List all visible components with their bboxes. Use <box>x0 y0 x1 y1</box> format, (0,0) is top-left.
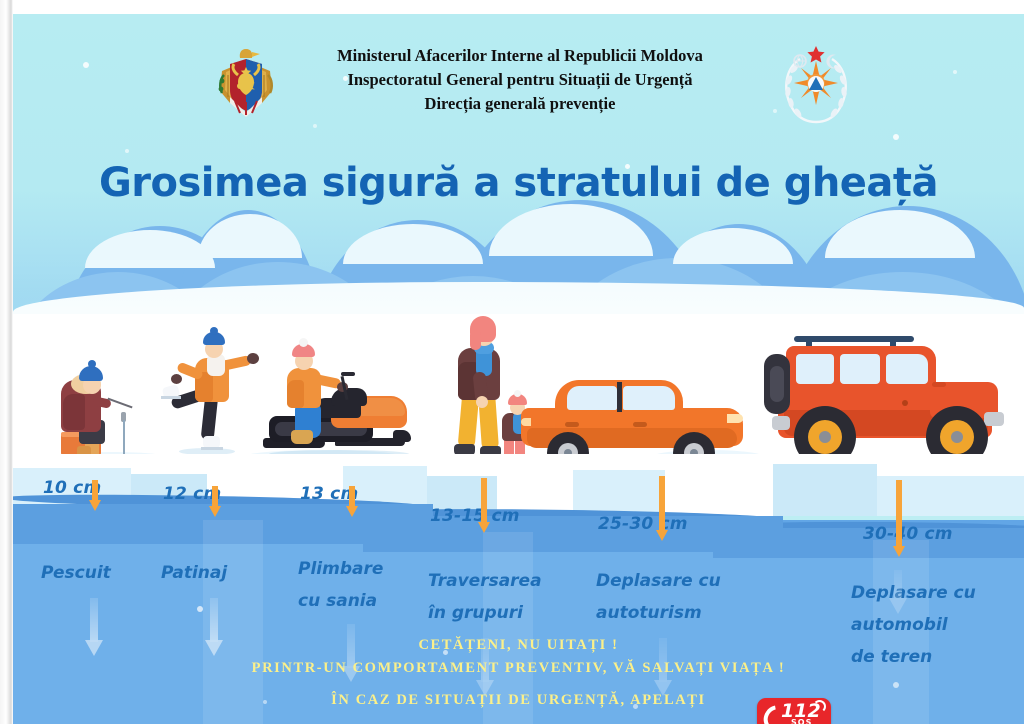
thickness-label-6: 30-40 cm <box>863 524 953 544</box>
thickness-arrow-1 <box>89 480 101 512</box>
thickness-arrow-6 <box>893 480 905 562</box>
activity-label-1: Pescuit <box>41 560 111 586</box>
header-line-1: Ministerul Afacerilor Interne al Republi… <box>282 44 758 68</box>
page-title: Grosimea sigură a stratului de gheață <box>13 160 1024 206</box>
car-window-front <box>567 386 617 410</box>
header-line-2: Inspectoratul General pentru Situații de… <box>282 68 758 92</box>
activity-label-5a: Deplasare cu <box>596 568 721 594</box>
activity-label-3b: cu sania <box>298 588 377 614</box>
suv-roof-rack <box>794 336 914 342</box>
emergency-112-badge[interactable]: 112 SOS <box>757 698 831 724</box>
thickness-label-5: 25-30 cm <box>598 514 688 534</box>
thickness-arrow-5 <box>656 476 668 546</box>
suv-window-2 <box>840 354 880 384</box>
thickness-arrow-2 <box>209 486 221 518</box>
activity-label-5b: autoturism <box>596 600 702 626</box>
signal-wave-icon <box>813 700 826 713</box>
footer-line-3: ÎN CAZ DE SITUAȚII DE URGENȚĂ, APELAȚI <box>13 689 1024 712</box>
thickness-arrow-3 <box>346 486 358 518</box>
suv-window-3 <box>886 354 928 384</box>
igsu-emblem-icon <box>778 43 854 125</box>
activity-label-4b: în grupuri <box>428 600 523 626</box>
car-window-rear <box>623 386 675 410</box>
activity-label-6a: Deplasare cu <box>851 580 976 606</box>
ice-skater-figure <box>153 332 263 457</box>
emergency-sos-label: SOS <box>791 718 812 724</box>
poster-sheet: 10 cm Pescuit 12 cm Patinaj 13 cm <box>13 14 1024 724</box>
orange-suv-offroad-vehicle <box>750 330 1016 470</box>
header-line-3: Direcția generală prevenție <box>282 92 758 116</box>
thickness-arrow-4 <box>478 478 490 536</box>
suv-window-1 <box>796 354 834 384</box>
footer-message: CETĂȚENI, NU UITAȚI ! PRINTR-UN COMPORTA… <box>13 634 1024 712</box>
snowmobile-rider-figure <box>261 342 421 460</box>
activity-label-4a: Traversarea <box>428 568 542 594</box>
moldova-coat-of-arms-icon <box>216 45 276 125</box>
thickness-label-4: 13-15 cm <box>430 506 520 526</box>
footer-line-1: CETĂȚENI, NU UITAȚI ! <box>13 634 1024 657</box>
activity-label-2: Patinaj <box>161 560 227 586</box>
water-depth-arrow-6 <box>889 570 907 614</box>
header-title-block: Ministerul Afacerilor Interne al Republi… <box>282 44 758 116</box>
poster-root: 10 cm Pescuit 12 cm Patinaj 13 cm <box>0 0 1024 724</box>
footer-line-2: PRINTR-UN COMPORTAMENT PREVENTIV, VĂ SAL… <box>13 657 1024 680</box>
orange-sedan-car <box>521 374 743 466</box>
activity-label-3a: Plimbare <box>298 556 383 582</box>
ice-fisherman-figure <box>55 354 135 464</box>
